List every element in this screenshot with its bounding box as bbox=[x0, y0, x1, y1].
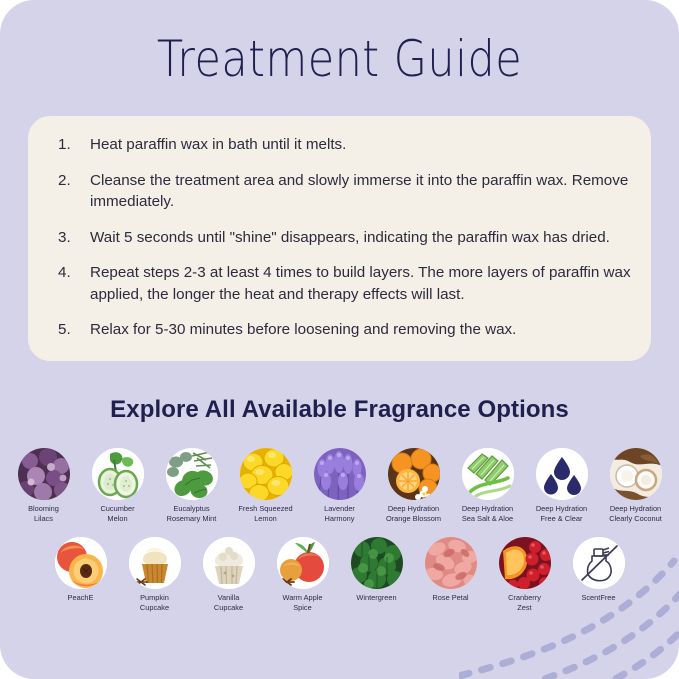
fragrance-label: ScentFree bbox=[581, 593, 615, 603]
fragrance-label: Warm Apple Spice bbox=[283, 593, 323, 613]
fragrance-row-2: PeachE Pumpkin Cupcake Vanilla Cupcake W… bbox=[0, 537, 679, 613]
fragrance-row-1: Blooming Lilacs Cucumber Melon Eucalyptu… bbox=[0, 448, 679, 524]
fragrance-option[interactable]: Deep Hydration Clearly Coconut bbox=[599, 448, 673, 524]
fragrance-option[interactable]: Blooming Lilacs bbox=[7, 448, 81, 524]
fragrance-label: Cranberry Zest bbox=[508, 593, 541, 613]
fragrance-label: Pumpkin Cupcake bbox=[140, 593, 169, 613]
oranges-blossom-icon bbox=[388, 448, 440, 500]
list-item: 2. Cleanse the treatment area and slowly… bbox=[46, 170, 635, 213]
fragrance-label: Vanilla Cupcake bbox=[214, 593, 243, 613]
aloe-stalks-icon bbox=[462, 448, 514, 500]
fragrance-option[interactable]: Deep Hydration Orange Blossom bbox=[377, 448, 451, 524]
fragrance-label: Eucalyptus Rosemary Mint bbox=[167, 504, 217, 524]
water-droplets-icon bbox=[536, 448, 588, 500]
fragrance-label: Deep Hydration Orange Blossom bbox=[386, 504, 441, 524]
fragrance-option[interactable]: Wintergreen bbox=[340, 537, 414, 613]
fragrance-option[interactable]: Deep Hydration Sea Salt & Aloe bbox=[451, 448, 525, 524]
fragrance-option[interactable]: Lavender Harmony bbox=[303, 448, 377, 524]
step-number: 1. bbox=[58, 134, 84, 156]
treatment-steps-card: 1. Heat paraffin wax in bath until it me… bbox=[28, 116, 651, 361]
coconut-icon bbox=[610, 448, 662, 500]
page-title: Treatment Guide bbox=[48, 30, 632, 88]
fragrance-label: Cucumber Melon bbox=[100, 504, 134, 524]
fragrance-option[interactable]: Eucalyptus Rosemary Mint bbox=[155, 448, 229, 524]
eucalyptus-mint-leaves-icon bbox=[166, 448, 218, 500]
list-item: 3. Wait 5 seconds until "shine" disappea… bbox=[46, 227, 635, 249]
fragrance-option[interactable]: Pumpkin Cupcake bbox=[118, 537, 192, 613]
fragrance-option[interactable]: Warm Apple Spice bbox=[266, 537, 340, 613]
pumpkin-cupcake-icon bbox=[129, 537, 181, 589]
apple-cinnamon-icon bbox=[277, 537, 329, 589]
list-item: 4. Repeat steps 2-3 at least 4 times to … bbox=[46, 262, 635, 305]
step-number: 4. bbox=[58, 262, 84, 284]
list-item: 5. Relax for 5-30 minutes before looseni… bbox=[46, 319, 635, 341]
treatment-steps-list: 1. Heat paraffin wax in bath until it me… bbox=[46, 134, 635, 341]
lilac-flowers-icon bbox=[18, 448, 70, 500]
lemons-icon bbox=[240, 448, 292, 500]
no-fragrance-bottle-icon bbox=[573, 537, 625, 589]
fragrance-label: PeachE bbox=[68, 593, 94, 603]
fragrance-option[interactable]: Vanilla Cupcake bbox=[192, 537, 266, 613]
fragrance-label: Deep Hydration Free & Clear bbox=[536, 504, 587, 524]
fragrance-label: Blooming Lilacs bbox=[28, 504, 59, 524]
fragrance-option[interactable]: Cranberry Zest bbox=[488, 537, 562, 613]
fragrance-label: Rose Petal bbox=[432, 593, 468, 603]
cranberry-orange-icon bbox=[499, 537, 551, 589]
fragrance-option[interactable]: PeachE bbox=[44, 537, 118, 613]
step-number: 2. bbox=[58, 170, 84, 192]
list-item: 1. Heat paraffin wax in bath until it me… bbox=[46, 134, 635, 156]
fragrance-option[interactable]: Cucumber Melon bbox=[81, 448, 155, 524]
fragrance-label: Deep Hydration Sea Salt & Aloe bbox=[462, 504, 513, 524]
fragrance-option[interactable]: ScentFree bbox=[562, 537, 636, 613]
step-text: Cleanse the treatment area and slowly im… bbox=[90, 172, 628, 211]
fragrance-label: Wintergreen bbox=[356, 593, 396, 603]
fragrance-option[interactable]: Rose Petal bbox=[414, 537, 488, 613]
rose-petals-icon bbox=[425, 537, 477, 589]
vanilla-cupcake-icon bbox=[203, 537, 255, 589]
peach-halves-icon bbox=[55, 537, 107, 589]
step-text: Heat paraffin wax in bath until it melts… bbox=[90, 136, 346, 153]
cucumber-slices-icon bbox=[92, 448, 144, 500]
step-text: Relax for 5-30 minutes before loosening … bbox=[90, 321, 516, 338]
treatment-guide-card: Treatment Guide 1. Heat paraffin wax in … bbox=[0, 0, 679, 679]
fragrance-section-heading: Explore All Available Fragrance Options bbox=[0, 396, 679, 424]
step-text: Wait 5 seconds until "shine" disappears,… bbox=[90, 229, 610, 246]
lavender-field-icon bbox=[314, 448, 366, 500]
fragrance-option[interactable]: Fresh Squeezed Lemon bbox=[229, 448, 303, 524]
step-number: 5. bbox=[58, 319, 84, 341]
fragrance-label: Deep Hydration Clearly Coconut bbox=[609, 504, 662, 524]
fragrance-option[interactable]: Deep Hydration Free & Clear bbox=[525, 448, 599, 524]
fragrance-label: Lavender Harmony bbox=[324, 504, 355, 524]
wintergreen-leaves-icon bbox=[351, 537, 403, 589]
fragrance-label: Fresh Squeezed Lemon bbox=[238, 504, 292, 524]
step-number: 3. bbox=[58, 227, 84, 249]
step-text: Repeat steps 2-3 at least 4 times to bui… bbox=[90, 264, 631, 303]
